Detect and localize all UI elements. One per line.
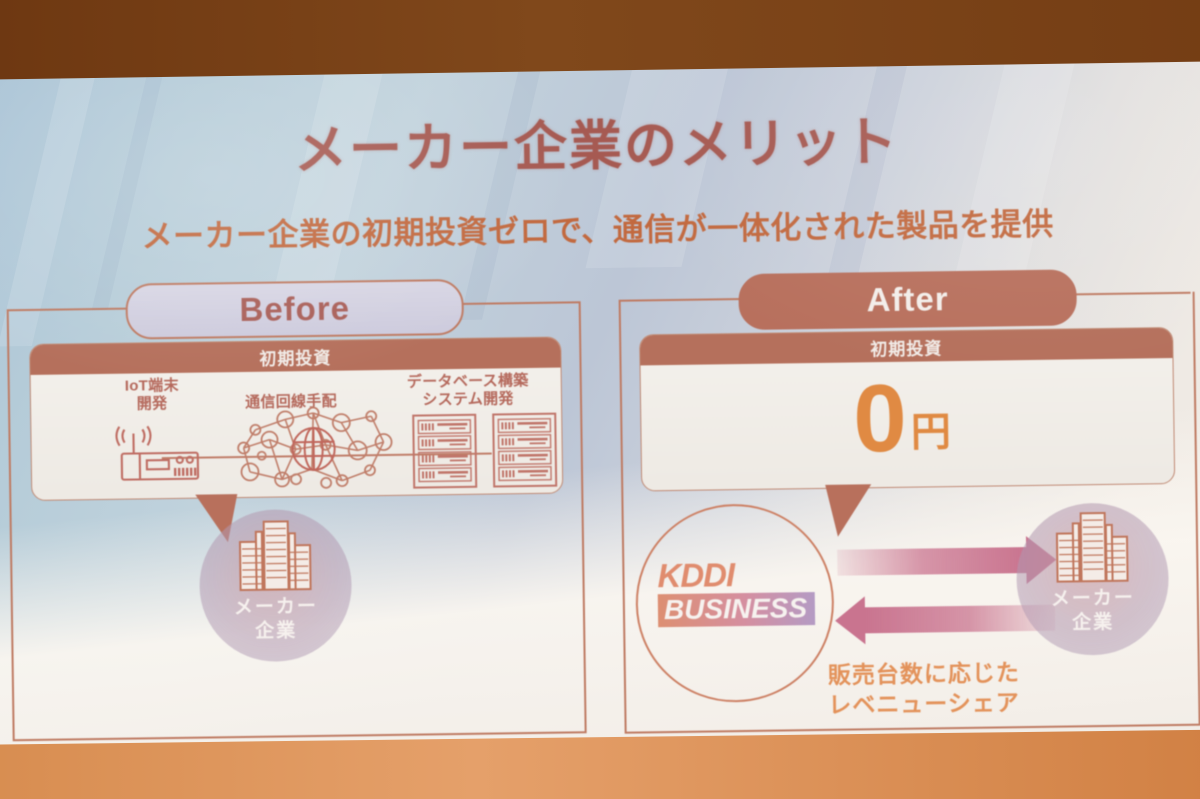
after-card-header-label: 初期投資 xyxy=(870,334,942,360)
after-pill: After xyxy=(738,269,1077,330)
after-pill-label: After xyxy=(866,280,949,319)
before-item-0-line2: 開発 xyxy=(93,395,211,415)
after-maker-circle: メーカー 企業 xyxy=(1016,502,1170,656)
after-maker-circle-label: メーカー 企業 xyxy=(1017,586,1170,637)
after-maker-line1: メーカー xyxy=(1017,586,1169,612)
before-maker-line1: メーカー xyxy=(200,594,352,620)
maker-to-kddi-arrow-head xyxy=(835,596,866,644)
before-maker-circle: メーカー 企業 xyxy=(199,509,353,663)
after-maker-line2: 企業 xyxy=(1017,610,1169,636)
revenue-share-caption: 販売台数に応じた レベニューシェア xyxy=(828,657,1021,720)
after-card-body: 0 円 xyxy=(641,358,1175,490)
before-item-0-line1: IoT端末 xyxy=(93,376,211,396)
zero-cost: 0 円 xyxy=(853,377,952,461)
kddi-logo-line1: KDDI xyxy=(657,557,815,592)
page-subtitle: メーカー企業の初期投資ゼロで、通信が一体化された製品を提供 xyxy=(0,197,1198,259)
building-icon xyxy=(231,519,320,592)
before-card-body: IoT端末 開発 通信回線手配 データベース構築 システム開発 xyxy=(31,368,563,500)
kddi-logo-line2: BUSINESS xyxy=(658,592,816,627)
kddi-to-maker-arrow-body xyxy=(837,547,1027,576)
page-title: メーカー企業のメリット xyxy=(0,96,1197,189)
revenue-share-line2: レベニューシェア xyxy=(828,688,1020,721)
before-item-2-line1: データベース構築 xyxy=(383,372,553,393)
before-pill-label: Before xyxy=(239,289,350,329)
before-pill: Before xyxy=(125,279,464,340)
server-rack-icon xyxy=(409,410,562,492)
building-icon xyxy=(1048,511,1137,584)
kddi-business-logo: KDDI BUSINESS xyxy=(657,557,815,627)
before-item-label-0: IoT端末 開発 xyxy=(93,376,211,414)
before-maker-circle-label: メーカー 企業 xyxy=(200,594,353,645)
before-item-2-line2: システム開発 xyxy=(383,390,553,411)
iot-router-icon xyxy=(111,420,220,488)
after-card-tail xyxy=(825,484,872,537)
before-item-label-2: データベース構築 システム開発 xyxy=(383,372,553,411)
projection-screen: メーカー企業のメリット メーカー企業の初期投資ゼロで、通信が一体化された製品を提… xyxy=(0,29,1200,768)
zero-cost-number: 0 xyxy=(853,378,908,461)
before-card-header-label: 初期投資 xyxy=(259,343,331,369)
before-maker-line2: 企業 xyxy=(200,619,352,645)
after-cost-card: 初期投資 0 円 xyxy=(639,327,1175,491)
network-globe-icon xyxy=(225,394,402,501)
before-cost-card: 初期投資 IoT端末 開発 通信回線手配 データベース構築 シス xyxy=(29,337,563,501)
projected-slide-photo: メーカー企業のメリット メーカー企業の初期投資ゼロで、通信が一体化された製品を提… xyxy=(0,0,1200,799)
zero-cost-unit: 円 xyxy=(907,412,952,461)
revenue-share-line1: 販売台数に応じた xyxy=(828,657,1020,690)
